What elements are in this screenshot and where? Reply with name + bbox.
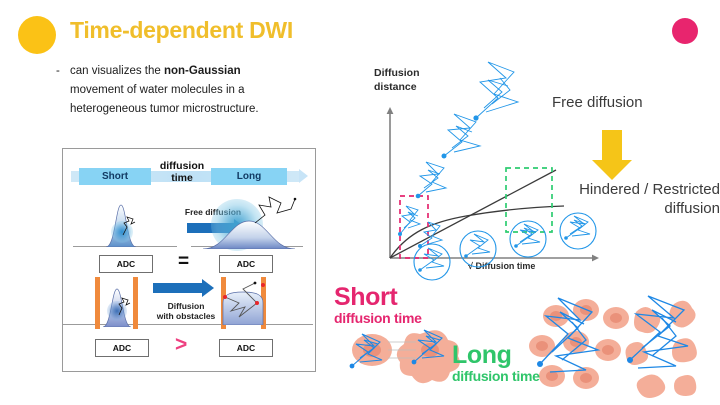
diffusion-time-label: diffusion time: [155, 160, 209, 184]
long-diffusion-time-label: Long diffusion time: [452, 342, 540, 384]
restricted-walker-4: [560, 213, 596, 249]
bullet-line1-bold: non-Gaussian: [164, 65, 241, 77]
adc-box-row1-left: ADC: [99, 255, 153, 273]
hindered-diffusion-arrow: [153, 283, 203, 293]
row2-comparator: >: [175, 337, 187, 353]
short-label-big: Short: [334, 284, 422, 310]
adc-box-row2-right: ADC: [219, 339, 273, 357]
hindered-label-line1: Hindered / Restricted: [579, 181, 720, 198]
long-label-small: diffusion time: [452, 368, 540, 384]
hindered-caption-line2: with obstacles: [157, 311, 216, 321]
emphasis-down-arrow: [592, 130, 632, 180]
diffusion-time-label-line2: time: [171, 172, 193, 184]
diffusion-figure-panel: Short Long diffusion time: [62, 148, 316, 372]
title-bullet-dot: [18, 16, 56, 54]
bullet-line1-pre: can visualizes the: [70, 65, 164, 77]
chip-short: Short: [79, 168, 151, 185]
page-title: Time-dependent DWI: [70, 17, 293, 44]
random-walk-trace-2: [251, 193, 299, 227]
corner-accent-dot: [672, 18, 698, 44]
random-walk-trace-3: [117, 297, 131, 317]
short-time-annotation-box: [400, 196, 428, 258]
hindered-diffusion-label: Hindered / Restricted diffusion: [505, 180, 720, 218]
adc-box-row2-left: ADC: [95, 339, 149, 357]
chip-long: Long: [211, 168, 287, 185]
bullet-line3: heterogeneous tumor microstructure.: [70, 103, 259, 115]
random-walk-trace-4: [219, 273, 267, 325]
hindered-caption-line1: Diffusion: [168, 301, 205, 311]
bullet-text: can visualizes the non-Gaussian movement…: [70, 62, 326, 119]
barrier-left-1: [95, 277, 100, 329]
cell-cluster-long-round: [529, 299, 629, 389]
long-label-big: Long: [452, 342, 540, 368]
hindered-diffusion-caption: Diffusion with obstacles: [147, 301, 225, 321]
free-walker-cloud-5: [473, 62, 518, 121]
diffusion-time-axis-arrowhead: [299, 169, 308, 183]
row2-baseline: [63, 324, 313, 325]
restricted-walker-3: [510, 221, 546, 257]
restricted-walker-1: [414, 244, 450, 280]
bullet-block: - can visualizes the non-Gaussian moveme…: [56, 62, 326, 119]
diffusion-time-chart: Diffusion distance √ Diffusion time: [360, 56, 720, 288]
restricted-walker-2: [460, 231, 496, 267]
chart-plot-area: [360, 56, 720, 288]
random-walk-trace-1: [121, 215, 137, 237]
bullet-marker: -: [56, 62, 60, 81]
free-walker-cloud-3: [416, 162, 446, 198]
adc-box-row1-right: ADC: [219, 255, 273, 273]
free-diffusion-label: Free diffusion: [552, 94, 643, 111]
free-walker-cloud-1: [398, 206, 420, 236]
diffusion-time-label-line1: diffusion: [160, 160, 204, 172]
hindered-label-line2: diffusion: [664, 200, 720, 217]
short-diffusion-time-label: Short diffusion time: [334, 284, 422, 326]
row1-comparator: =: [178, 255, 189, 269]
bullet-line2: movement of water molecules in a: [70, 84, 245, 96]
short-label-small: diffusion time: [334, 310, 422, 326]
free-walker-cloud-4: [442, 114, 481, 159]
cell-cluster-short: [352, 330, 460, 383]
barrier-left-2: [133, 277, 138, 329]
slide-canvas: Time-dependent DWI - can visualizes the …: [0, 0, 720, 405]
